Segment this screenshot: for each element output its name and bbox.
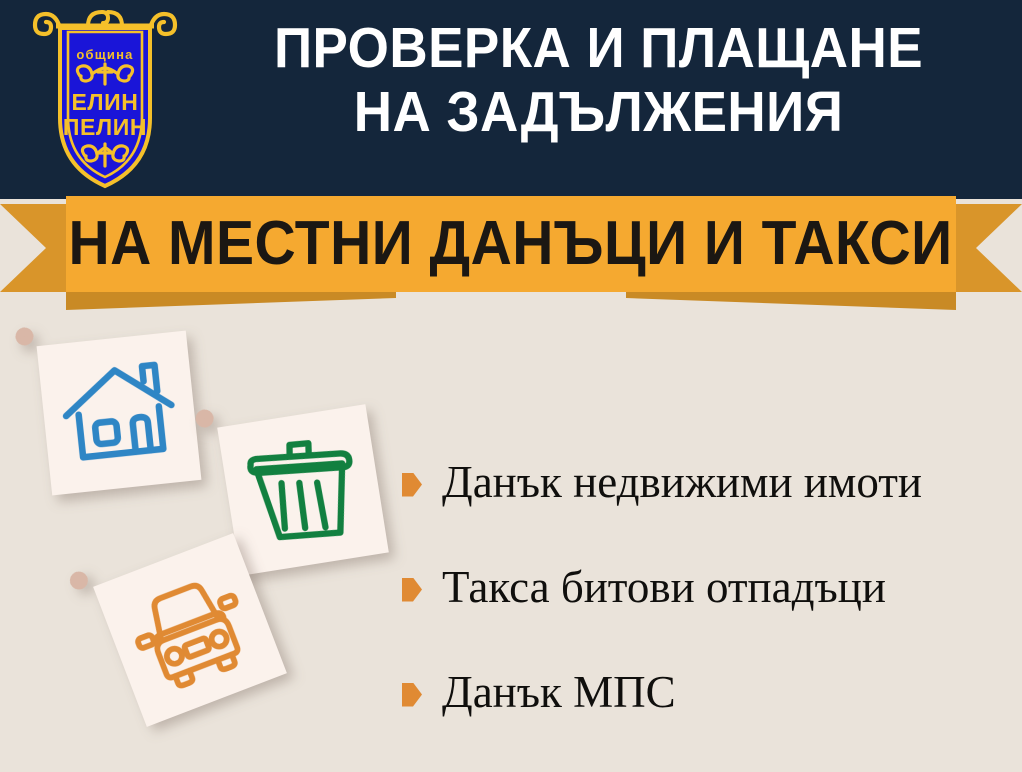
arrow-bullet-icon — [402, 473, 422, 497]
header-banner: община ЕЛИН ПЕЛИН — [0, 0, 1022, 199]
svg-text:ЕЛИН: ЕЛИН — [71, 89, 138, 115]
coat-of-arms-icon: община ЕЛИН ПЕЛИН — [30, 6, 180, 192]
poster-canvas: община ЕЛИН ПЕЛИН — [0, 0, 1022, 772]
page-title-line-1: ПРОВЕРКА И ПЛАЩАНЕ — [214, 16, 983, 80]
list-item[interactable]: Данък недвижими имоти — [402, 430, 1012, 535]
list-item[interactable]: Данък МПС — [402, 640, 1012, 745]
page-title-line-2: НА ЗАДЪЛЖЕНИЯ — [214, 80, 983, 144]
services-list: Данък недвижими имоти Такса битови отпад… — [402, 430, 1012, 745]
subtitle-ribbon: НА МЕСТНИ ДАНЪЦИ И ТАКСИ — [0, 196, 1022, 306]
stamp-card-property-tax — [15, 309, 224, 518]
arrow-bullet-icon — [402, 578, 422, 602]
house-icon — [50, 344, 188, 482]
list-item-label: Данък МПС — [442, 670, 676, 715]
page-title: ПРОВЕРКА И ПЛАЩАНЕ НА ЗАДЪЛЖЕНИЯ — [214, 16, 983, 145]
municipality-logo: община ЕЛИН ПЕЛИН — [30, 6, 180, 192]
arrow-bullet-icon — [402, 683, 422, 707]
ribbon-label: НА МЕСТНИ ДАНЪЦИ И ТАКСИ — [69, 213, 953, 275]
list-item[interactable]: Такса битови отпадъци — [402, 535, 1012, 640]
list-item-label: Данък недвижими имоти — [442, 460, 922, 505]
ribbon-body: НА МЕСТНИ ДАНЪЦИ И ТАКСИ — [66, 196, 956, 292]
svg-text:община: община — [76, 47, 133, 62]
svg-text:ПЕЛИН: ПЕЛИН — [63, 114, 147, 140]
list-item-label: Такса битови отпадъци — [442, 565, 886, 610]
